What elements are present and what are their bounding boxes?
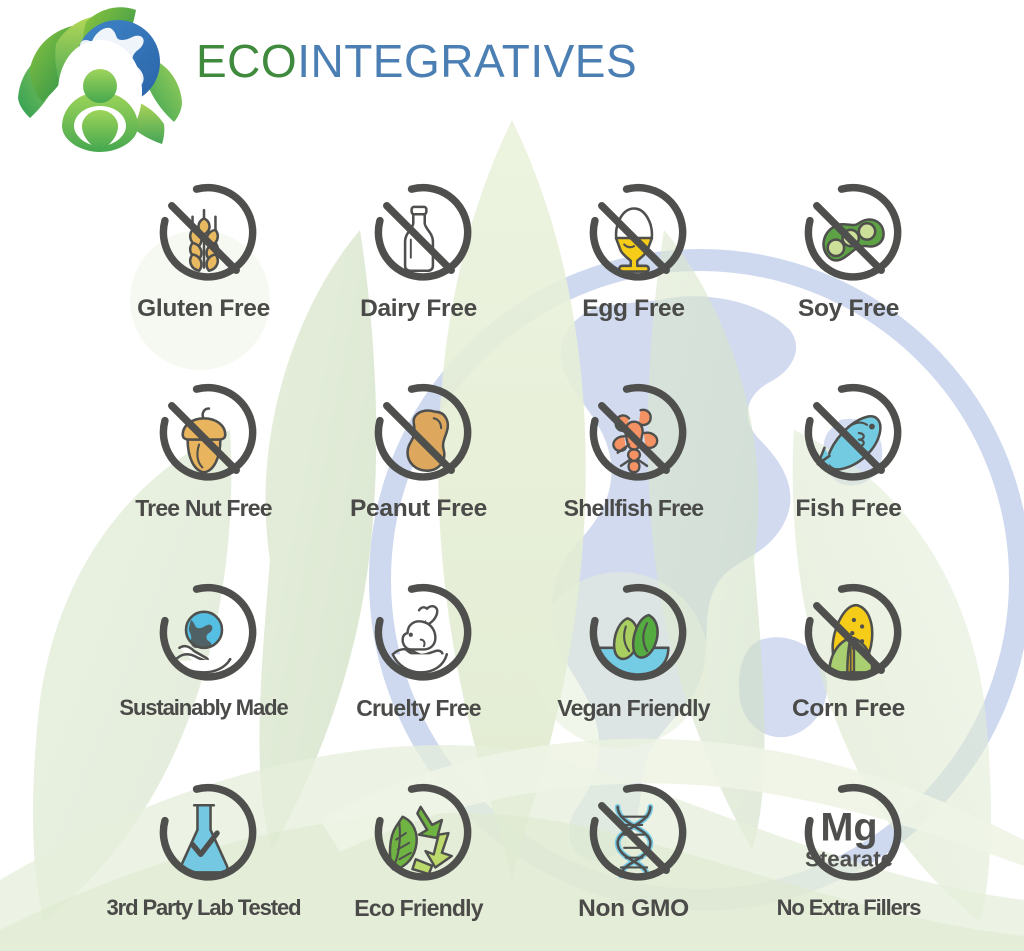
badge-label-non-gmo: Non GMO xyxy=(578,896,689,922)
infographic-canvas: ECOINTEGRATIVES Gluten Free xyxy=(0,0,1024,951)
non-gmo-icon xyxy=(572,776,696,900)
corn-free-icon xyxy=(787,576,911,700)
badge-label-fish-free: Fish Free xyxy=(795,496,901,522)
badge-gluten-free[interactable]: Gluten Free xyxy=(96,176,311,376)
no-extra-fillers-icon: Mg Stearate xyxy=(787,776,911,900)
badge-eco-friendly[interactable]: Eco Friendly xyxy=(311,776,526,951)
attribute-badge-grid: Gluten Free Dairy Free xyxy=(96,176,956,946)
badge-fish-free[interactable]: Fish Free xyxy=(741,376,956,576)
page-title: ECOINTEGRATIVES xyxy=(196,38,637,84)
badge-label-3rd-party-lab-tested: 3rd Party Lab Tested xyxy=(107,896,301,919)
badge-label-egg-free: Egg Free xyxy=(582,296,684,322)
badge-3rd-party-lab-tested[interactable]: 3rd Party Lab Tested xyxy=(96,776,311,951)
badge-sustainably-made[interactable]: Sustainably Made xyxy=(96,576,311,776)
badge-label-peanut-free: Peanut Free xyxy=(350,496,487,522)
badge-shellfish-free[interactable]: Shellfish Free xyxy=(526,376,741,576)
badge-dairy-free[interactable]: Dairy Free xyxy=(311,176,526,376)
badge-cruelty-free[interactable]: Cruelty Free xyxy=(311,576,526,776)
egg-free-icon xyxy=(572,176,696,300)
soy-free-icon xyxy=(787,176,911,300)
badge-label-vegan-friendly: Vegan Friendly xyxy=(557,696,709,720)
badge-label-tree-nut-free: Tree Nut Free xyxy=(135,496,272,520)
fish-free-icon xyxy=(787,376,911,500)
dairy-free-icon xyxy=(357,176,481,300)
vegan-friendly-icon xyxy=(572,576,696,700)
badge-label-soy-free: Soy Free xyxy=(798,296,899,322)
badge-peanut-free[interactable]: Peanut Free xyxy=(311,376,526,576)
badge-label-sustainably-made: Sustainably Made xyxy=(119,696,287,719)
badge-vegan-friendly[interactable]: Vegan Friendly xyxy=(526,576,741,776)
badge-label-cruelty-free: Cruelty Free xyxy=(356,696,481,720)
sustainably-made-icon xyxy=(142,576,266,700)
cruelty-free-icon xyxy=(357,576,481,700)
tree-nut-free-icon xyxy=(142,376,266,500)
badge-label-gluten-free: Gluten Free xyxy=(137,296,270,322)
badge-label-shellfish-free: Shellfish Free xyxy=(564,496,704,520)
badge-egg-free[interactable]: Egg Free xyxy=(526,176,741,376)
3rd-party-lab-tested-icon xyxy=(142,776,266,900)
gluten-free-icon xyxy=(142,176,266,300)
brand-header: ECOINTEGRATIVES xyxy=(0,0,640,160)
badge-non-gmo[interactable]: Non GMO xyxy=(526,776,741,951)
badge-label-dairy-free: Dairy Free xyxy=(360,296,477,322)
badge-no-extra-fillers[interactable]: Mg Stearate No Extra Fillers xyxy=(741,776,956,951)
eco-integratives-logo-icon xyxy=(14,6,186,156)
badge-inner-text-top: Mg xyxy=(820,805,877,849)
badge-tree-nut-free[interactable]: Tree Nut Free xyxy=(96,376,311,576)
badge-corn-free[interactable]: Corn Free xyxy=(741,576,956,776)
badge-label-no-extra-fillers: No Extra Fillers xyxy=(777,896,921,919)
peanut-free-icon xyxy=(357,376,481,500)
brand-name-part2: INTEGRATIVES xyxy=(297,35,637,87)
badge-soy-free[interactable]: Soy Free xyxy=(741,176,956,376)
eco-friendly-icon xyxy=(357,776,481,900)
badge-label-corn-free: Corn Free xyxy=(792,696,905,722)
badge-label-eco-friendly: Eco Friendly xyxy=(354,896,482,920)
brand-name-part1: ECO xyxy=(196,35,297,87)
shellfish-free-icon xyxy=(572,376,696,500)
